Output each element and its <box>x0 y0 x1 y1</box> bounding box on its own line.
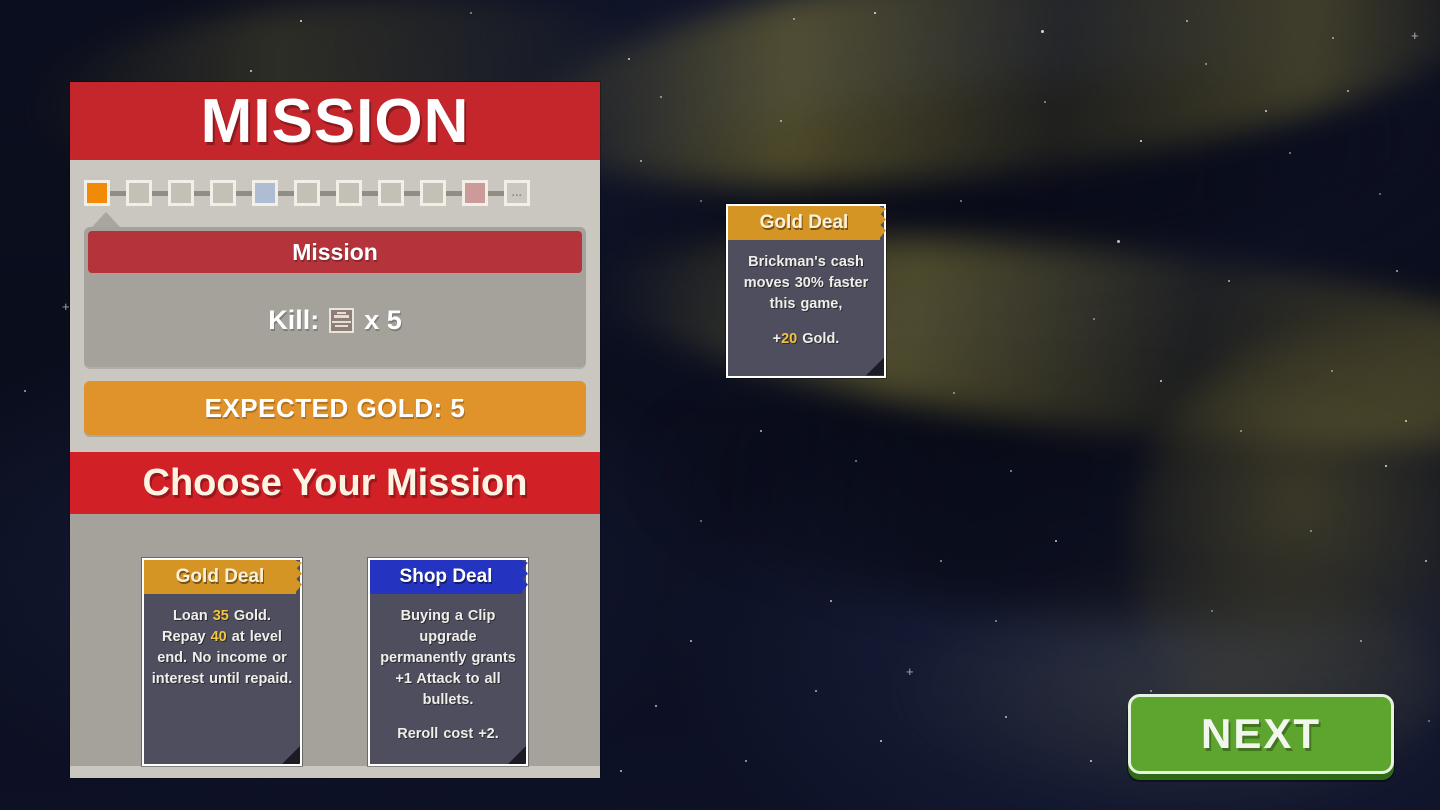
progress-node-4[interactable] <box>210 180 236 206</box>
star <box>1379 193 1381 195</box>
mission-kill-prefix: Kill: <box>268 305 319 336</box>
progress-link <box>446 191 462 196</box>
progress-node-7[interactable] <box>336 180 362 206</box>
progress-link <box>404 191 420 196</box>
star <box>940 560 942 562</box>
star <box>1090 760 1092 762</box>
enemy-sprite-icon <box>329 308 354 333</box>
star <box>300 20 302 22</box>
star <box>1211 610 1213 612</box>
deal-card-text: +20 Gold. <box>735 329 877 350</box>
torn-edge-decoration <box>294 560 302 594</box>
star <box>690 640 692 642</box>
star <box>1205 63 1207 65</box>
progress-link <box>152 191 168 196</box>
deal-card-title: Shop Deal <box>400 566 493 588</box>
star <box>1310 530 1312 532</box>
deal-card-body: Loan 35 Gold. Repay 40 at level end. No … <box>144 594 300 734</box>
page-title: MISSION <box>70 82 600 160</box>
star <box>1331 370 1333 372</box>
mission-box-header-label: Mission <box>292 239 378 266</box>
progress-link <box>236 191 252 196</box>
folded-corner-icon <box>282 746 300 764</box>
deal-choices: Gold DealLoan 35 Gold. Repay 40 at level… <box>70 514 600 766</box>
star <box>1265 110 1267 112</box>
next-button[interactable]: NEXT <box>1128 694 1394 774</box>
progress-node-6[interactable] <box>294 180 320 206</box>
progress-node-3[interactable] <box>168 180 194 206</box>
progress-link <box>488 191 504 196</box>
deal-card-body: Brickman's cash moves 30% faster this ga… <box>728 240 884 376</box>
deal-card-header: Shop Deal <box>370 560 522 594</box>
torn-edge-decoration <box>878 206 886 240</box>
next-button-label: NEXT <box>1201 710 1321 758</box>
star <box>1044 101 1046 103</box>
torn-edge-decoration <box>520 560 528 594</box>
expected-gold-label: EXPECTED GOLD: 5 <box>205 393 466 424</box>
mission-objective-box: Mission Kill: x 5 <box>84 227 586 367</box>
star <box>1005 716 1007 718</box>
deal-card-title: Gold Deal <box>760 212 849 234</box>
expected-gold-bar: EXPECTED GOLD: 5 <box>84 381 586 435</box>
mission-box-header: Mission <box>88 231 582 273</box>
star <box>815 690 817 692</box>
progress-node-...[interactable]: ... <box>504 180 530 206</box>
star <box>1396 270 1398 272</box>
star <box>250 70 252 72</box>
star <box>1405 420 1407 422</box>
progress-node-9[interactable] <box>420 180 446 206</box>
star <box>830 600 832 602</box>
deal-card-title: Gold Deal <box>176 566 265 588</box>
deal-tooltip-card: Gold DealBrickman's cash moves 30% faste… <box>726 204 886 378</box>
star <box>1425 560 1427 562</box>
progress-node-8[interactable] <box>378 180 404 206</box>
progress-link <box>320 191 336 196</box>
star <box>960 200 962 202</box>
star <box>1117 240 1120 243</box>
star <box>1385 465 1387 467</box>
star-sparkle: + <box>1411 29 1419 42</box>
star <box>793 18 795 20</box>
deal-text-run: + <box>773 331 781 347</box>
star <box>1186 20 1188 22</box>
star <box>655 705 657 707</box>
star <box>745 760 747 762</box>
deal-card-text: Loan 35 Gold. Repay 40 at level end. No … <box>151 606 293 690</box>
star <box>880 740 882 742</box>
star-sparkle: + <box>906 665 914 678</box>
star <box>1360 640 1362 642</box>
star <box>1289 152 1291 154</box>
star-sparkle: + <box>62 300 70 313</box>
mission-objective-body: Kill: x 5 <box>84 273 586 367</box>
star <box>1228 280 1230 282</box>
star <box>628 58 630 60</box>
deal-text-run: Buying a Clip upgrade permanently grants… <box>380 608 516 708</box>
choose-your-mission-header: Choose Your Mission <box>70 452 600 514</box>
progress-link <box>362 191 378 196</box>
star <box>760 430 762 432</box>
star <box>1150 690 1152 692</box>
star <box>620 770 622 772</box>
star <box>1332 37 1334 39</box>
progress-node-10[interactable] <box>462 180 488 206</box>
star <box>660 96 662 98</box>
progress-node-5[interactable] <box>252 180 278 206</box>
star <box>1428 720 1430 722</box>
progress-link <box>110 191 126 196</box>
deal-text-run: Brickman's cash moves 30% faster this ga… <box>744 254 869 312</box>
deal-amount-value: 35 <box>213 608 229 624</box>
star <box>700 200 702 202</box>
deal-card-header: Gold Deal <box>728 206 880 240</box>
star <box>995 620 997 622</box>
deal-card-gold[interactable]: Gold DealLoan 35 Gold. Repay 40 at level… <box>142 558 302 766</box>
deal-card-header: Gold Deal <box>144 560 296 594</box>
star <box>874 12 876 14</box>
star <box>780 120 782 122</box>
star <box>1010 470 1012 472</box>
star <box>640 160 642 162</box>
star <box>1160 380 1162 382</box>
star <box>1140 140 1142 142</box>
choose-your-mission-label: Choose Your Mission <box>143 462 528 505</box>
deal-card-body: Buying a Clip upgrade permanently grants… <box>370 594 526 771</box>
progress-node-1[interactable] <box>84 180 110 206</box>
mission-kill-count: x 5 <box>364 305 402 336</box>
deal-card-shop[interactable]: Shop DealBuying a Clip upgrade permanent… <box>368 558 528 766</box>
star <box>700 520 702 522</box>
page-title-label: MISSION <box>201 86 470 157</box>
star <box>1055 540 1057 542</box>
game-screen: +++ MISSION ... Mission Kill: x 5 EXPECT… <box>0 0 1440 810</box>
star <box>470 12 472 14</box>
progress-link <box>194 191 210 196</box>
deal-amount-value: 20 <box>781 331 797 347</box>
star <box>1093 318 1095 320</box>
progress-node-2[interactable] <box>126 180 152 206</box>
star <box>24 390 26 392</box>
star <box>1347 90 1349 92</box>
deal-amount-value: 40 <box>211 629 227 645</box>
progress-link <box>278 191 294 196</box>
deal-card-text: Reroll cost +2. <box>377 724 519 745</box>
star <box>1240 430 1242 432</box>
deal-text-run: Gold. <box>797 331 839 347</box>
star <box>1041 30 1044 33</box>
current-node-pointer <box>92 212 120 227</box>
star <box>855 460 857 462</box>
deal-text-run: Loan <box>173 608 213 624</box>
mission-panel: MISSION ... Mission Kill: x 5 EXPECTED G… <box>70 82 600 778</box>
deal-card-gold[interactable]: Gold DealBrickman's cash moves 30% faste… <box>726 204 886 378</box>
level-progress-track: ... <box>70 160 600 212</box>
star <box>953 392 955 394</box>
deal-card-text: Brickman's cash moves 30% faster this ga… <box>735 252 877 315</box>
deal-text-run: Reroll cost +2. <box>397 726 499 742</box>
deal-card-text: Buying a Clip upgrade permanently grants… <box>377 606 519 710</box>
